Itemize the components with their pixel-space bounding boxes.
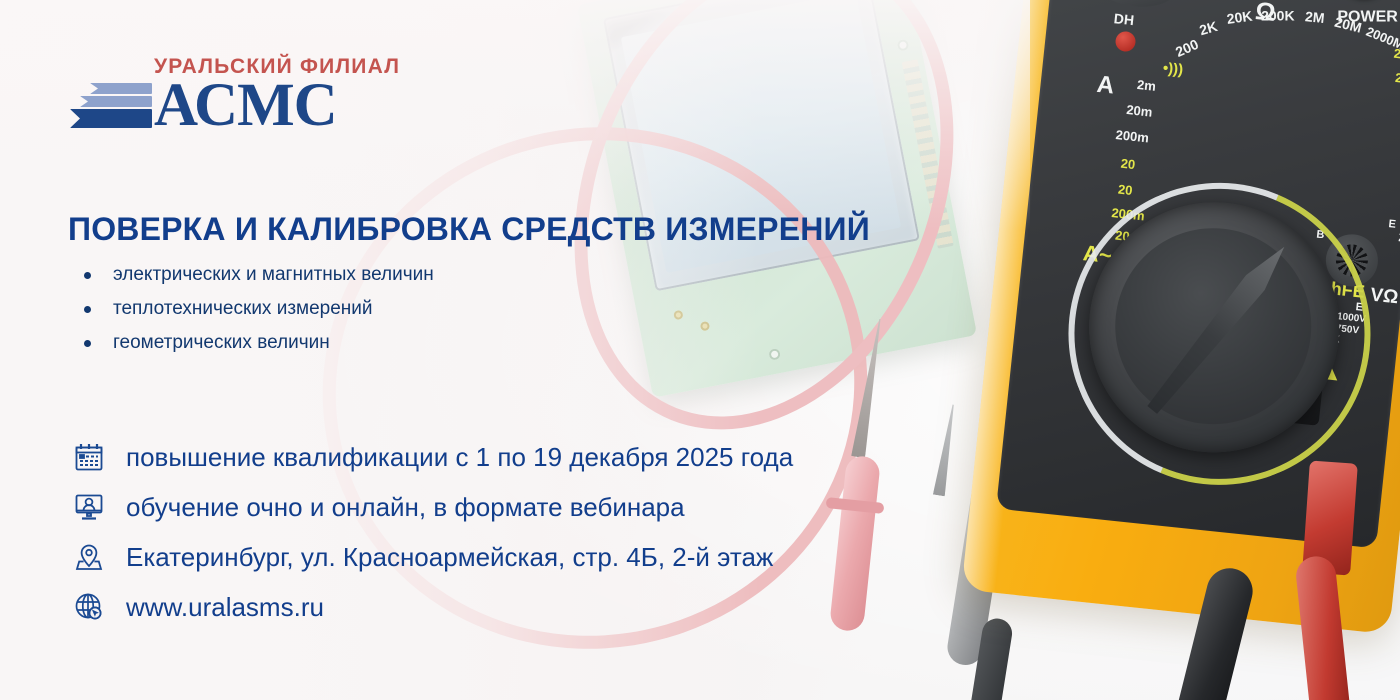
- calendar-icon: [66, 435, 112, 479]
- info-label-format: обучение очно и онлайн, в формате вебина…: [126, 492, 685, 523]
- info-label-address: Екатеринбург, ул. Красноармейская, стр. …: [126, 542, 773, 573]
- map-pin-icon: [66, 535, 112, 579]
- monitor-person-icon: [66, 485, 112, 529]
- globe-cursor-icon: [66, 585, 112, 629]
- bullet-dot-icon: [84, 272, 91, 279]
- logo-stripes-icon: [68, 81, 152, 131]
- info-row-address: Екатеринбург, ул. Красноармейская, стр. …: [66, 532, 793, 582]
- info-row-dates: повышение квалификации с 1 по 19 декабря…: [66, 432, 793, 482]
- info-row-format: обучение очно и онлайн, в формате вебина…: [66, 482, 793, 532]
- poster-canvas: 888 DH POWER AUTO POWER OFF Ω 200 2K 20K…: [0, 0, 1400, 700]
- list-item: электрических и магнитных величин: [84, 258, 434, 292]
- info-row-website[interactable]: www.uralasms.ru: [66, 582, 793, 632]
- list-item: теплотехнических измерений: [84, 292, 434, 326]
- bullet-dot-icon: [84, 340, 91, 347]
- info-label-dates: повышение квалификации с 1 по 19 декабря…: [126, 442, 793, 473]
- services-list: электрических и магнитных величин теплот…: [84, 258, 434, 360]
- logo-wordmark: АСМС: [154, 81, 337, 131]
- poster-content: УРАЛЬСКИЙ ФИЛИАЛ АСМС ПОВЕРКА И КАЛИБРОВ…: [0, 0, 1400, 700]
- list-item-label: геометрических величин: [113, 332, 330, 354]
- list-item-label: электрических и магнитных величин: [113, 264, 434, 286]
- list-item-label: теплотехнических измерений: [113, 298, 373, 320]
- info-label-website: www.uralasms.ru: [126, 592, 324, 623]
- asms-logo[interactable]: УРАЛЬСКИЙ ФИЛИАЛ АСМС: [68, 55, 400, 131]
- bullet-dot-icon: [84, 306, 91, 313]
- page-title: ПОВЕРКА И КАЛИБРОВКА СРЕДСТВ ИЗМЕРЕНИЙ: [68, 211, 870, 248]
- list-item: геометрических величин: [84, 326, 434, 360]
- info-block: повышение квалификации с 1 по 19 декабря…: [66, 432, 793, 632]
